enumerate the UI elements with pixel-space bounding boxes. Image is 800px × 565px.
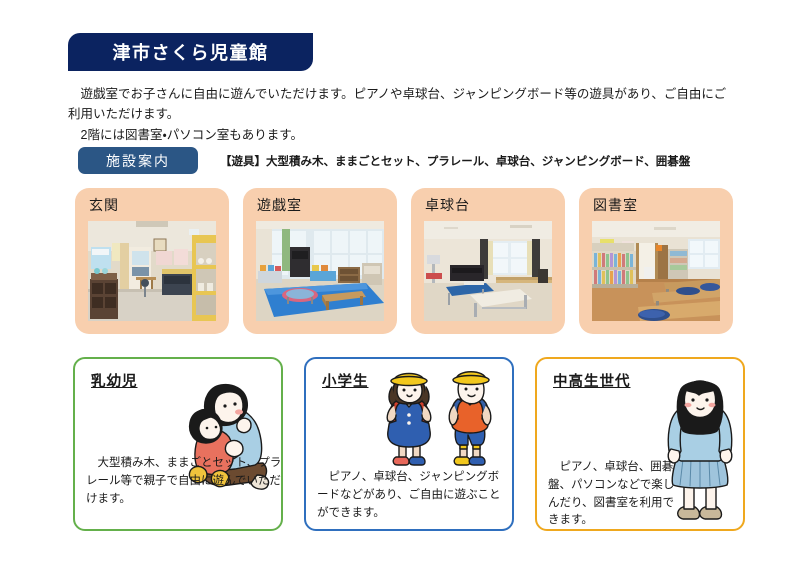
- description-line-2: 2階には図書室・パソコン室もあります。: [68, 125, 733, 145]
- audience-box-heading: 乳幼児: [91, 370, 138, 391]
- photo-card-label: 遊戯室: [257, 195, 302, 215]
- audience-box-body: 大型積み木、ままごとセット、プラレール等で親子で自由に遊んでいただけます。: [86, 455, 282, 508]
- audience-box-body: ピアノ、卓球台、ジャンピングボードなどがあり、ご自由に遊ぶことができます。: [317, 469, 509, 522]
- facility-guide-row: 施設案内 【遊具】大型積み木、ままごとセット、プラレール、卓球台、ジャンピングボ…: [78, 147, 690, 174]
- photo-card-library: 図書室: [579, 188, 733, 334]
- photo-card-label: 図書室: [593, 195, 638, 215]
- audience-box-heading: 中高生世代: [553, 370, 631, 391]
- library-photo: [592, 221, 720, 321]
- photo-card-entrance: 玄関: [75, 188, 229, 334]
- table-tennis-photo: [424, 221, 552, 321]
- photo-card-playroom: 遊戯室: [243, 188, 397, 334]
- entrance-photo: [88, 221, 216, 321]
- facility-guide-badge-label: 施設案内: [106, 151, 170, 171]
- audience-box-infant: 乳幼児: [73, 357, 283, 531]
- page-title: 津市さくら児童館: [113, 39, 269, 65]
- photo-card-label: 卓球台: [425, 195, 470, 215]
- audience-box-elementary: 小学生: [304, 357, 514, 531]
- audience-box-heading: 小学生: [322, 370, 369, 391]
- playroom-photo: [256, 221, 384, 321]
- audience-box-body: ピアノ、卓球台、囲碁盤、パソコンなどで楽しんだり、図書室を利用できます。: [548, 459, 680, 530]
- equipment-list-text: 【遊具】大型積み木、ままごとセット、プラレール、卓球台、ジャンピングボード、囲碁…: [220, 153, 690, 169]
- audience-box-list: 乳幼児: [73, 357, 745, 531]
- two-elementary-students-illustration: [372, 367, 500, 475]
- photo-card-table-tennis: 卓球台: [411, 188, 565, 334]
- description-block: 遊戯室でお子さんに自由に遊んでいただけます。ピアノや卓球台、ジャンピングボード等…: [68, 84, 733, 145]
- photo-card-list: 玄関: [75, 188, 733, 334]
- page-title-banner: 津市さくら児童館: [68, 33, 313, 71]
- photo-card-label: 玄関: [89, 195, 119, 215]
- description-line-1: 遊戯室でお子さんに自由に遊んでいただけます。ピアノや卓球台、ジャンピングボード等…: [68, 84, 733, 125]
- facility-guide-badge: 施設案内: [78, 147, 198, 174]
- audience-box-teen: 中高生世代: [535, 357, 745, 531]
